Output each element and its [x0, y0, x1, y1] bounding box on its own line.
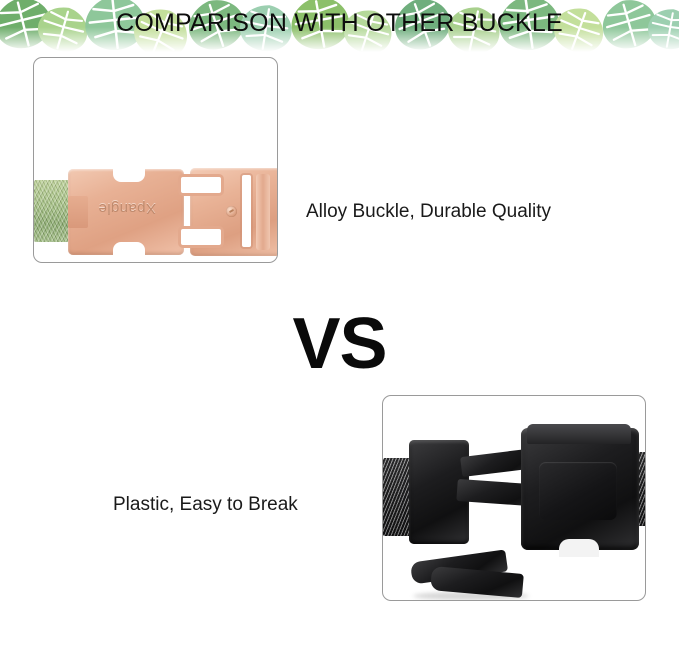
- alloy-buckle-illustration: Xpangle: [34, 58, 277, 262]
- vs-label: VS: [0, 306, 679, 382]
- buckle-slot: [242, 175, 251, 247]
- buckle-male-notch-bottom: [113, 242, 145, 256]
- plastic-buckle-illustration: [383, 396, 645, 600]
- plastic-buckle-photo: [382, 395, 646, 601]
- buckle-release-arm-top: [178, 174, 224, 196]
- plastic-buckle-top-lip: [527, 424, 631, 444]
- plastic-buckle-front-panel: [539, 462, 617, 520]
- plastic-caption: Plastic, Easy to Break: [113, 493, 298, 517]
- plastic-buckle-bottom-notch: [559, 539, 599, 557]
- buckle-male-notch-top: [113, 168, 145, 182]
- buckle-release-arm-bottom: [178, 226, 224, 248]
- buckle-cross-bar: [256, 174, 270, 250]
- plastic-buckle-main-body: [521, 428, 639, 550]
- page-title: COMPARISON WITH OTHER BUCKLE: [0, 8, 679, 38]
- alloy-buckle-female-half: [190, 168, 278, 256]
- alloy-caption: Alloy Buckle, Durable Quality: [306, 200, 551, 224]
- buckle-rivet: [226, 206, 237, 217]
- brand-engraving: Xpangle: [84, 200, 170, 217]
- alloy-buckle-photo: Xpangle: [33, 57, 278, 263]
- alloy-buckle-male-half: Xpangle: [68, 169, 184, 255]
